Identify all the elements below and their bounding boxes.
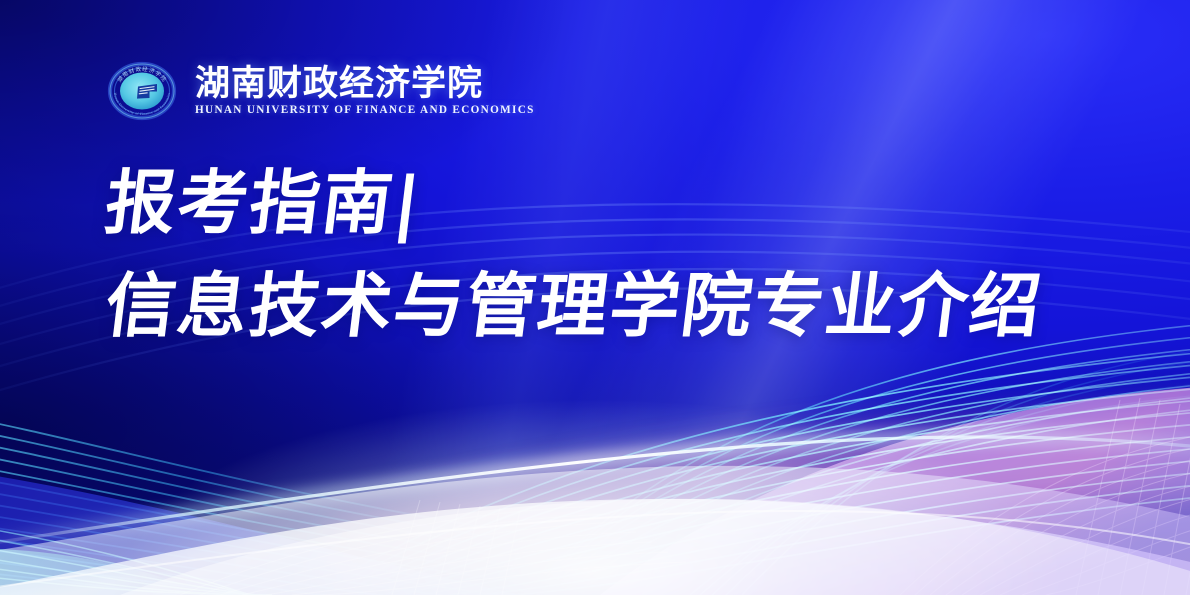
wave-glow-ribbon-blur [0,437,1190,548]
promotional-banner: 湖南财政经济学院 Hunan University of Finance and… [0,0,1190,595]
banner-headline: 报考指南| 信息技术与管理学院专业介绍 [101,163,1037,346]
wave-white-sheet-front [0,499,1190,595]
wave-pale-hatch [180,500,686,595]
wave-strands-center-arc [300,348,1190,595]
wave-glow-ribbon-secondary [0,511,1190,592]
headline-line-1: 报考指南| [101,163,1047,243]
wave-glow-ribbon [0,437,1190,548]
university-seal-icon: 湖南财政经济学院 Hunan University of Finance and… [101,55,183,127]
wave-strands-bottom-left [0,524,272,595]
wave-white-sheet-top [120,499,1190,595]
wave-mint-accent [0,548,210,595]
university-logo-lockup: 湖南财政经济学院 Hunan University of Finance and… [101,55,535,127]
headline-line-2: 信息技术与管理学院专业介绍 [101,266,1047,346]
wave-indigo-sheet [0,470,520,595]
university-name-block: 湖南财政经济学院 HUNAN UNIVERSITY OF FINANCE AND… [195,66,535,116]
wave-violet-dome [600,384,1190,595]
wave-strands-left [0,412,546,595]
wave-violet-hatch [900,398,1190,595]
wave-white-sheet-back [0,466,1190,595]
university-name-cn: 湖南财政经济学院 [195,66,535,102]
wave-strands-top-right [690,344,1190,595]
wave-pink-band [330,404,1190,595]
university-name-en: HUNAN UNIVERSITY OF FINANCE AND ECONOMIC… [195,105,535,116]
wave-strands-right-upper [518,320,1190,595]
